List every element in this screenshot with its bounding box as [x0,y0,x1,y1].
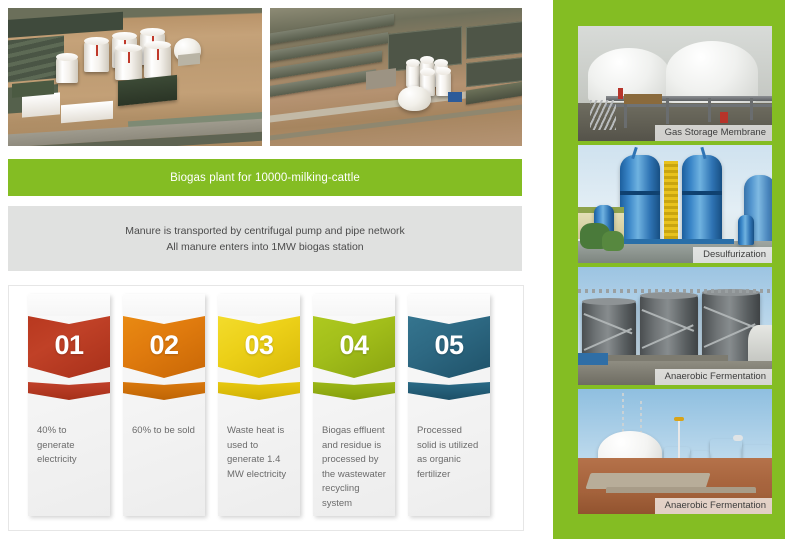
image-caption: Anaerobic Fermentation [655,498,772,514]
process-info-box: Manure is transported by centrifugal pum… [8,206,522,271]
step-card-02[interactable]: 02 60% to be sold [123,294,205,516]
step-badge-05: 05 [408,316,490,378]
step-badge-01: 01 [28,316,110,378]
step-card-05[interactable]: 05 Processed solid is utilized as organi… [408,294,490,516]
desulfurization-photo: Desulfurization [578,145,772,263]
step-text-01: 40% to generate electricity [37,424,103,468]
anaerobic-fermentation-dome-photo: Anaerobic Fermentation [578,389,772,514]
image-caption: Gas Storage Membrane [655,125,772,141]
image-caption: Anaerobic Fermentation [655,369,772,385]
step-badge-04: 04 [313,316,395,378]
step-badge-03: 03 [218,316,300,378]
step-chevron-03 [218,382,300,400]
page-title: Biogas plant for 10000-milking-cattle [170,172,360,184]
step-badge-02: 02 [123,316,205,378]
card-gloss [28,294,110,316]
step-number-03: 03 [244,332,273,362]
step-text-03: Waste heat is used to generate 1.4 MW el… [227,424,293,482]
page-title-bar: Biogas plant for 10000-milking-cattle [8,159,522,196]
step-number-02: 02 [149,332,178,362]
step-chevron-05 [408,382,490,400]
step-number-04: 04 [339,332,368,362]
step-card-04[interactable]: 04 Biogas effluent and residue is proces… [313,294,395,516]
info-line-1: Manure is transported by centrifugal pum… [125,223,405,239]
process-steps-container: 01 40% to generate electricity 02 60% to… [8,285,524,531]
image-caption: Desulfurization [693,247,772,263]
card-gloss [408,294,490,316]
card-gloss [218,294,300,316]
card-gloss [123,294,205,316]
step-card-03[interactable]: 03 Waste heat is used to generate 1.4 MW… [218,294,300,516]
step-text-04: Biogas effluent and residue is processed… [322,424,388,511]
step-chevron-02 [123,382,205,400]
step-chevron-04 [313,382,395,400]
card-gloss [313,294,395,316]
step-chevron-01 [28,382,110,400]
step-number-01: 01 [54,332,83,362]
right-gallery-panel: Gas Storage Membrane Desulfurization [553,0,785,539]
info-line-2: All manure enters into 1MW biogas statio… [166,239,363,255]
step-card-01[interactable]: 01 40% to generate electricity [28,294,110,516]
gas-storage-membrane-photo: Gas Storage Membrane [578,26,772,141]
step-text-02: 60% to be sold [132,424,198,439]
step-text-05: Processed solid is utilized as organic f… [417,424,483,482]
aerial-farm-barns-photo [270,8,522,146]
aerial-biogas-plant-photo [8,8,262,146]
step-number-05: 05 [434,332,463,362]
anaerobic-fermentation-tanks-photo: Anaerobic Fermentation [578,267,772,385]
